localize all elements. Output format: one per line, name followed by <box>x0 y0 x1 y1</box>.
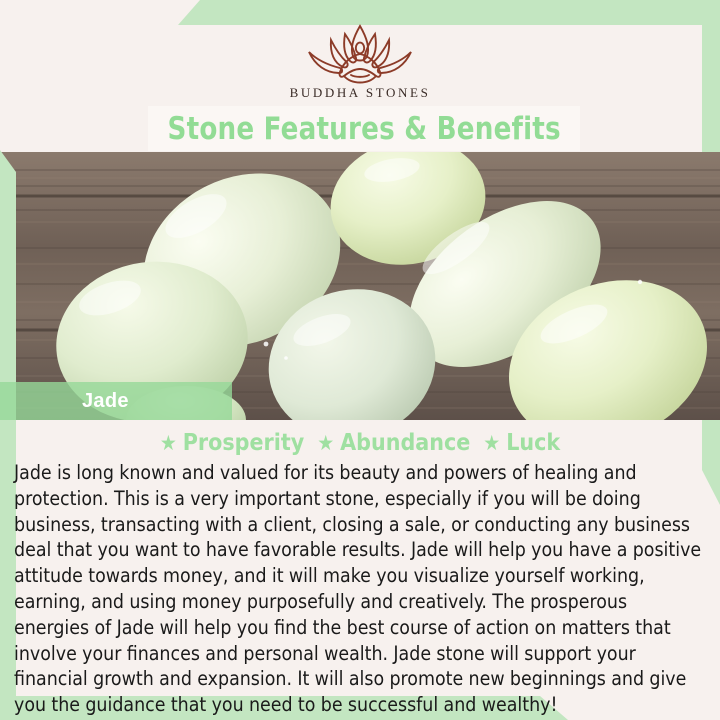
jade-stones-photo <box>0 152 720 420</box>
lotus-meditation-icon <box>285 22 435 84</box>
star-icon: ★ <box>160 433 177 454</box>
stone-description: Jade is long known and valued for its be… <box>14 460 704 718</box>
benefit-prosperity: ★ Prosperity <box>160 430 304 456</box>
benefit-label: Luck <box>506 430 560 456</box>
stone-name-label: Jade <box>82 390 129 413</box>
brand-logo: BUDDHA STONES <box>0 22 720 107</box>
benefits-row: ★ Prosperity ★ Abundance ★ Luck <box>0 428 720 458</box>
benefit-label: Prosperity <box>183 430 304 456</box>
stone-info-card: BUDDHA STONES Stone Features & Benefits <box>0 0 720 720</box>
page-title: Stone Features & Benefits <box>167 111 560 147</box>
title-banner: Stone Features & Benefits <box>148 106 580 151</box>
benefit-label: Abundance <box>340 430 470 456</box>
benefit-abundance: ★ Abundance <box>317 430 470 456</box>
brand-name: BUDDHA STONES <box>290 85 431 101</box>
stone-name-band: Jade <box>0 382 232 420</box>
star-icon: ★ <box>317 433 334 454</box>
star-icon: ★ <box>483 433 500 454</box>
photo-illustration <box>0 152 720 420</box>
benefit-luck: ★ Luck <box>483 430 560 456</box>
